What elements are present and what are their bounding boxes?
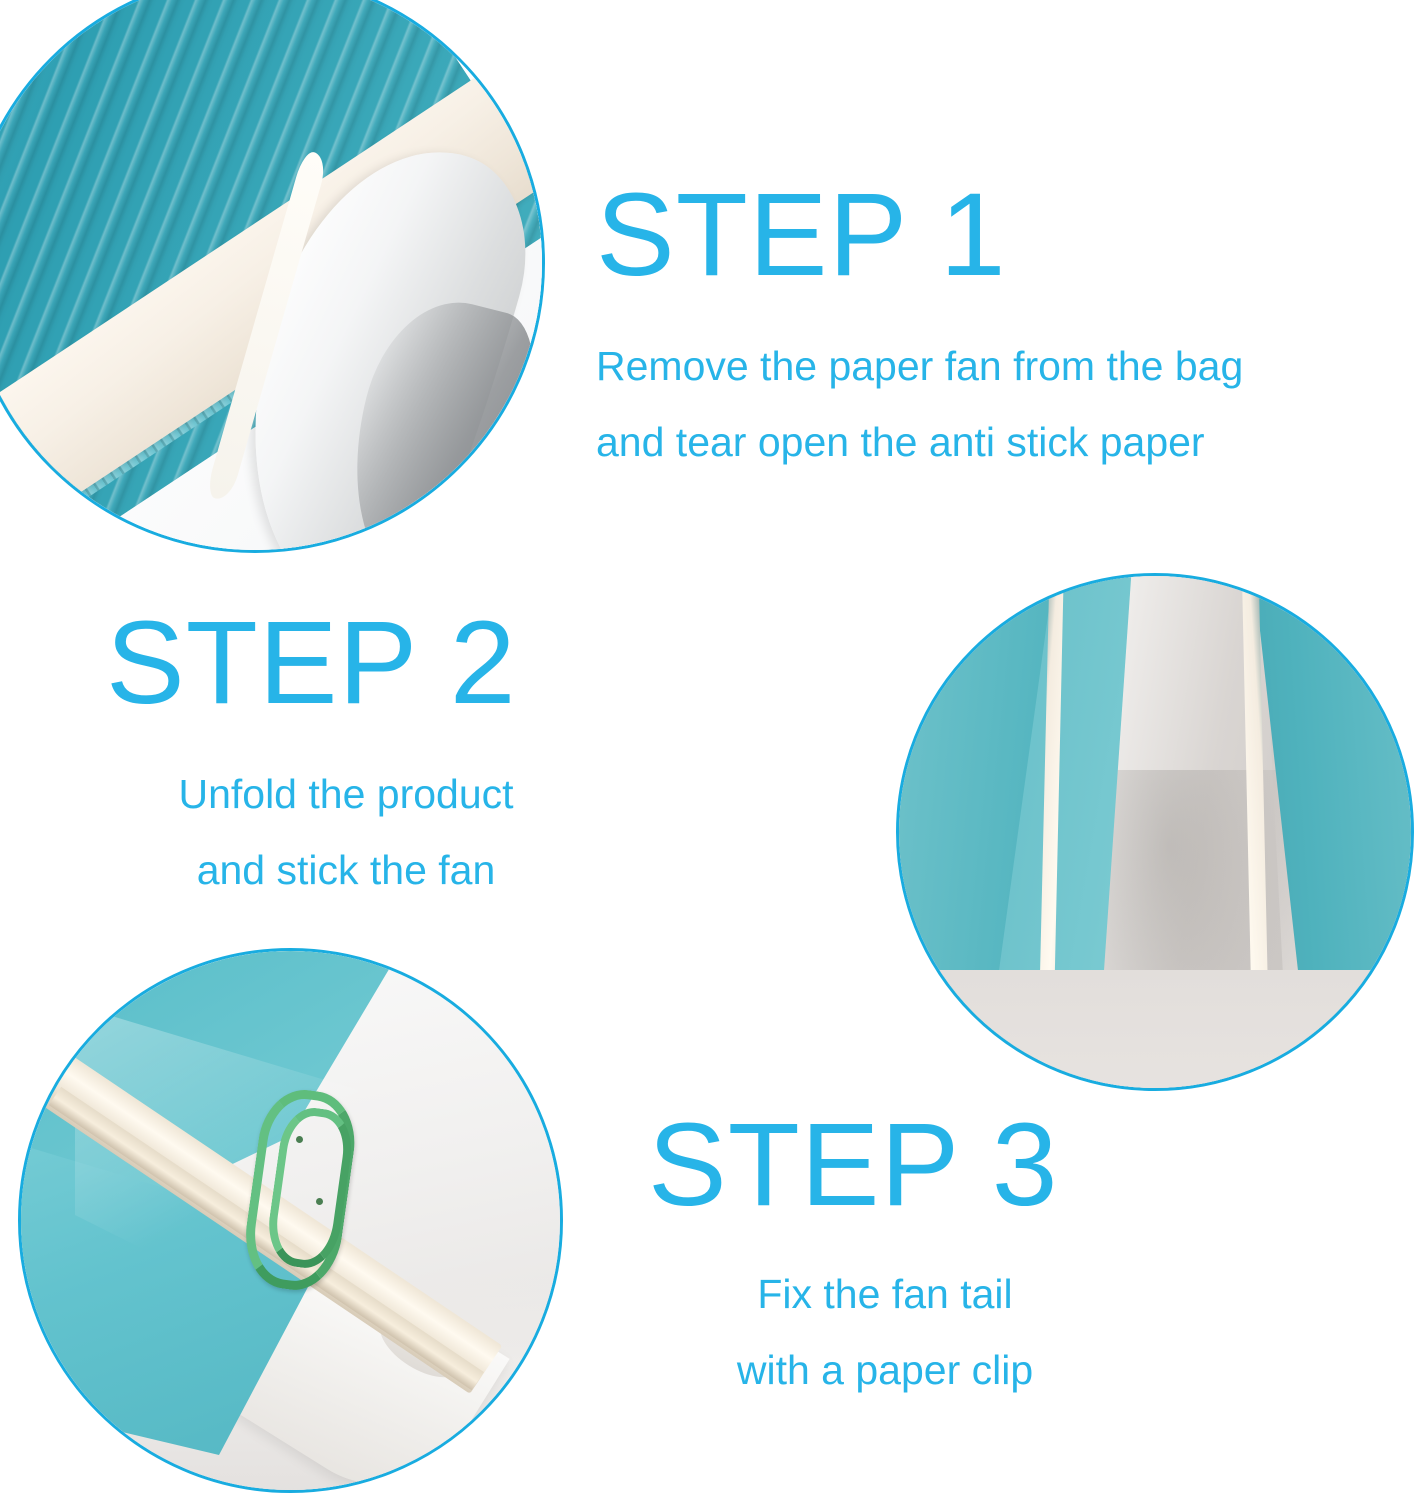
step-1-description: Remove the paper fan from the bag and te… (596, 346, 1243, 463)
step-3-text-block: STEP 3 Fix the fan tail with a paper cli… (648, 1106, 1122, 1391)
step-1-title: STEP 1 (596, 176, 1243, 294)
step-2-line-1: Unfold the product (106, 774, 586, 815)
step-3-line-1: Fix the fan tail (648, 1274, 1122, 1315)
step-1-text-block: STEP 1 Remove the paper fan from the bag… (596, 176, 1243, 463)
step-1-line-1: Remove the paper fan from the bag (596, 346, 1243, 387)
step-2-photo-circle (896, 573, 1414, 1091)
step-3-photo-circle (18, 948, 563, 1493)
step-2-text-block: STEP 2 Unfold the product and stick the … (106, 604, 586, 891)
instruction-infographic: STEP 1 Remove the paper fan from the bag… (0, 0, 1418, 1500)
surface-floor (896, 970, 1414, 1091)
step-1-photo-circle (0, 0, 545, 553)
step-3-line-2: with a paper clip (648, 1350, 1122, 1391)
step-2-description: Unfold the product and stick the fan (106, 774, 586, 891)
step-2-line-2: and stick the fan (106, 850, 586, 891)
step-3-photo-content (18, 948, 563, 1493)
step-3-description: Fix the fan tail with a paper clip (648, 1274, 1122, 1391)
step-1-photo-content (0, 0, 545, 553)
step-2-photo-content (896, 573, 1414, 1091)
step-3-title: STEP 3 (648, 1106, 1122, 1224)
step-2-title: STEP 2 (106, 604, 586, 722)
step-1-line-2: and tear open the anti stick paper (596, 422, 1243, 463)
